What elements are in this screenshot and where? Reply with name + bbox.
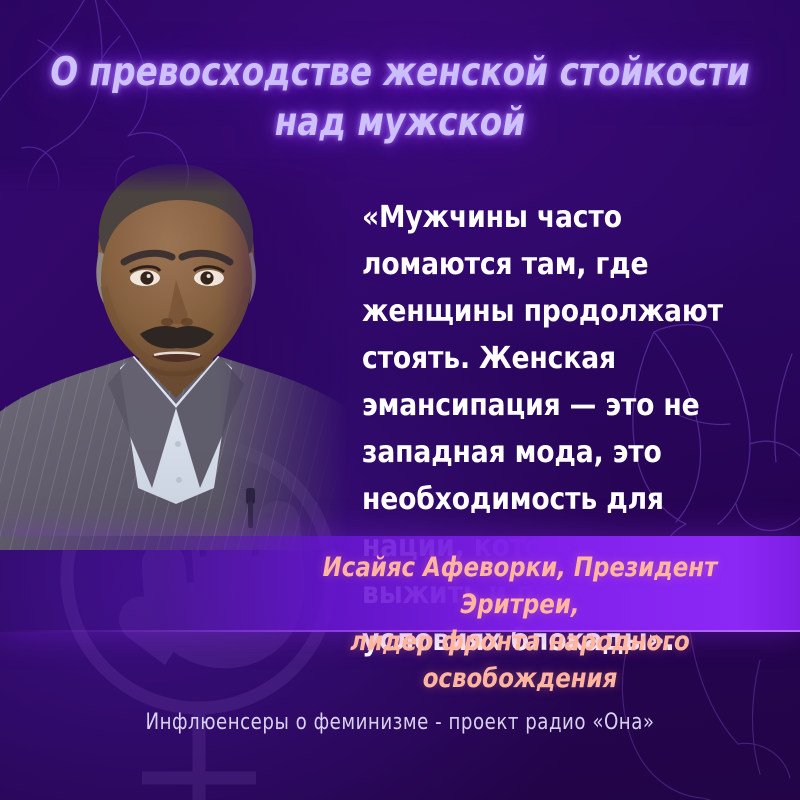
attribution-text: Исайяс Афеворки, Президент Эритреи, лиде… <box>261 549 779 697</box>
quote-poster: О превосходстве женской стойкости над му… <box>0 0 800 800</box>
portrait-photo <box>0 158 352 550</box>
page-title: О превосходстве женской стойкости над му… <box>28 48 772 148</box>
footer-credit: Инфлюенсеры о феминизме - проект радио «… <box>32 708 768 738</box>
